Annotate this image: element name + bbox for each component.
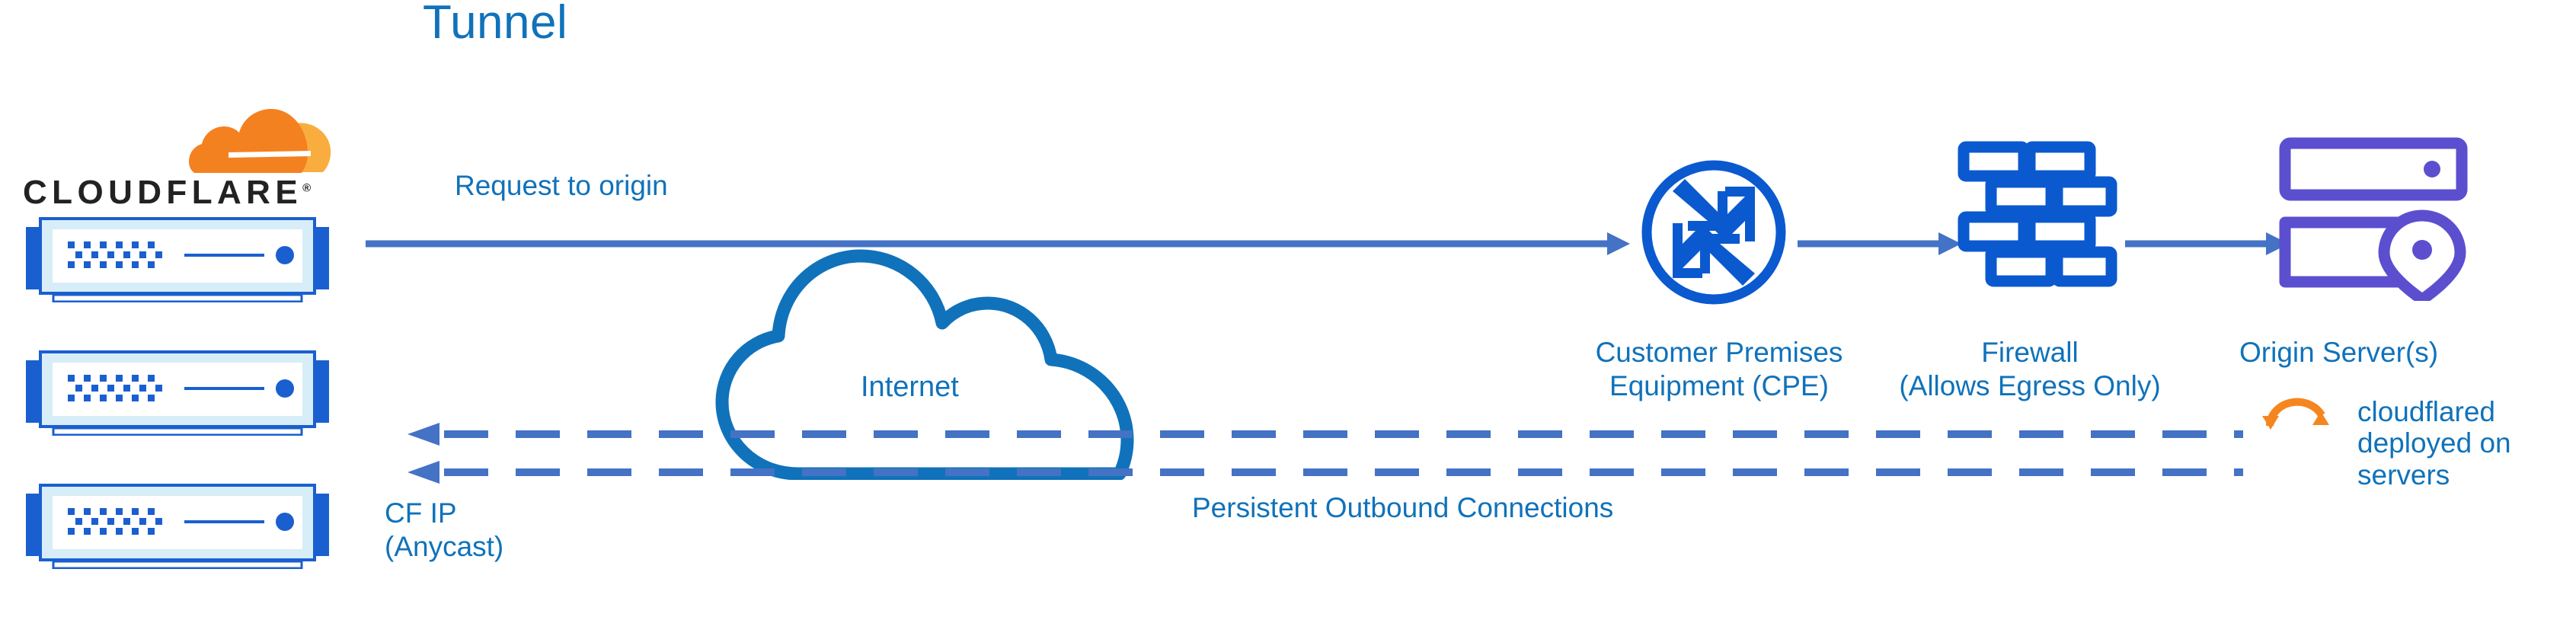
persistent-outbound-arrow-1 [407, 423, 2243, 446]
registered-mark: ® [302, 181, 311, 194]
server-rack-icon [14, 484, 341, 569]
label-origin-server: Origin Server(s) [2239, 336, 2559, 369]
brick-wall-icon [1958, 141, 2117, 293]
refresh-circle-icon [2258, 382, 2333, 457]
cloudflare-logo: CLOUDFLARE® [23, 107, 343, 209]
server-with-pin-icon [2277, 137, 2468, 301]
label-request-to-origin: Request to origin [455, 169, 668, 203]
label-cloudflared: cloudflared deployed on servers [2357, 396, 2548, 491]
status-light [276, 513, 294, 531]
label-internet: Internet [861, 370, 959, 404]
cpe-to-firewall-arrow [1798, 229, 1961, 259]
cloudflare-cloud-icon [189, 107, 337, 175]
label-persistent-outbound-connections: Persistent Outbound Connections [1192, 491, 1613, 525]
server-rack-icon [14, 350, 341, 436]
label-firewall: Firewall (Allows Egress Only) [1866, 336, 2194, 402]
four-arrows-circle-icon [1638, 156, 1790, 308]
label-cf-ip-anycast: CF IP (Anycast) [385, 497, 503, 563]
cloudflare-wordmark: CLOUDFLARE® [23, 174, 311, 212]
label-cpe: Customer Premises Equipment (CPE) [1555, 336, 1883, 402]
status-light [276, 246, 294, 264]
persistent-outbound-arrow-2 [407, 461, 2243, 484]
server-rack-icon [14, 217, 341, 302]
firewall-to-origin-arrow [2125, 229, 2289, 259]
status-light [276, 379, 294, 398]
cloudflare-wordmark-text: CLOUDFLARE [23, 174, 302, 211]
page-title: Tunnel [423, 0, 567, 49]
tunnel-diagram: Tunnel CLOUDFLARE® [0, 0, 2576, 617]
